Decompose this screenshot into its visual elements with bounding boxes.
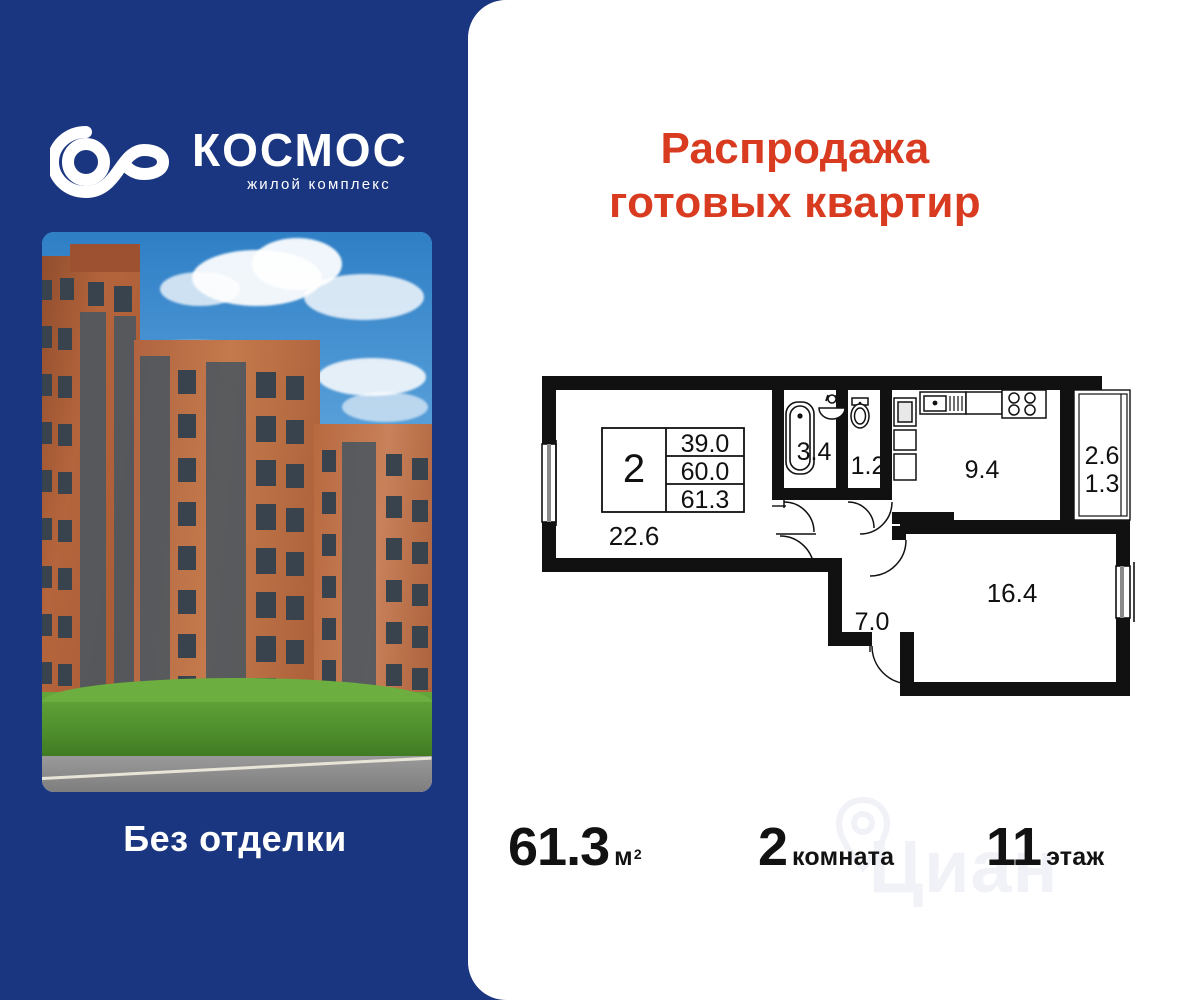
building-left	[42, 256, 140, 708]
badge-rooms: 2	[623, 447, 645, 491]
door-swings	[776, 500, 910, 684]
room-area-hall: 7.0	[855, 608, 890, 636]
stat-area-unit-sup: 2	[634, 846, 642, 862]
brand-panel: КОСМОС жилой комплекс	[0, 0, 470, 1000]
floor-plan-svg: 2 39.0 60.0 61.3 22.6 3.4 1.2 9.4 2.6 1.…	[514, 370, 1174, 700]
refrigerator-icon	[894, 398, 916, 480]
building-left-top	[70, 244, 140, 272]
room-area-bedroom: 16.4	[987, 578, 1038, 608]
stat-area-value: 61.3	[508, 817, 609, 877]
page-title: Распродажа готовых квартир	[468, 122, 1200, 230]
stat-area: 61.3м2	[508, 816, 642, 878]
building-right	[314, 424, 432, 708]
headline-line-2: готовых квартир	[468, 176, 1122, 230]
summary-stats: 61.3м2 2комната 11этаж	[508, 810, 1200, 896]
window-bedroom	[1116, 562, 1134, 622]
cloud	[304, 274, 424, 320]
headline-line-1: Распродажа	[468, 122, 1122, 176]
room-area-bathroom: 3.4	[797, 438, 832, 466]
room-area-living-room: 22.6	[609, 521, 660, 551]
stat-floor: 11этаж	[986, 816, 1104, 878]
road-marking	[42, 757, 431, 780]
building-center	[134, 340, 320, 708]
logo-wordmark: КОСМОС	[192, 124, 452, 176]
stove-icon	[1002, 390, 1046, 418]
cloud	[318, 358, 426, 396]
logo-text-block: КОСМОС жилой комплекс	[192, 124, 452, 194]
cloud	[342, 392, 428, 422]
stat-floor-label: этаж	[1046, 843, 1104, 871]
infinity-loop-icon	[50, 126, 176, 198]
stat-rooms-label: комната	[792, 843, 894, 871]
finish-caption: Без отделки	[0, 818, 470, 860]
room-area-wc: 1.2	[851, 452, 886, 480]
badge-area-no-balcony: 60.0	[681, 458, 730, 486]
badge-living-area: 39.0	[681, 430, 730, 458]
room-area-balcony-coef: 1.3	[1085, 470, 1120, 498]
floor-plan: 2 39.0 60.0 61.3 22.6 3.4 1.2 9.4 2.6 1.…	[514, 370, 1174, 700]
toilet-icon	[851, 398, 869, 428]
listing-card: Распродажа готовых квартир	[468, 0, 1200, 1000]
room-area-kitchen: 9.4	[965, 456, 1000, 484]
window-living-room	[542, 440, 556, 526]
stat-rooms-value: 2	[758, 817, 787, 877]
stat-area-unit: м	[614, 843, 633, 871]
lawn	[42, 692, 432, 758]
room-area-balcony: 2.6	[1085, 442, 1120, 470]
logo-tagline: жилой комплекс	[192, 176, 452, 194]
stat-floor-value: 11	[986, 817, 1041, 877]
logo-block: КОСМОС жилой комплекс	[42, 118, 442, 213]
residential-complex-photo	[42, 232, 432, 792]
road	[42, 756, 432, 792]
kitchen-sink-icon	[920, 392, 966, 414]
badge-total-area: 61.3	[681, 486, 730, 514]
stat-rooms: 2комната	[758, 816, 894, 878]
cloud	[160, 272, 240, 306]
countertop	[966, 392, 1002, 414]
